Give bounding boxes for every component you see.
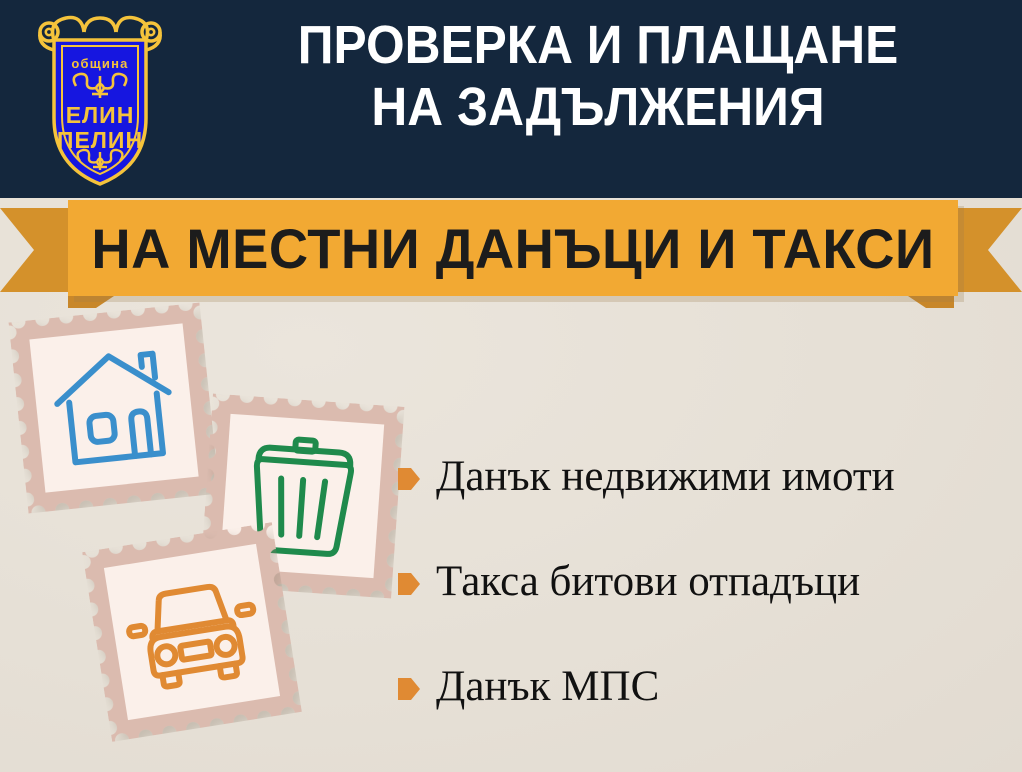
stamp-card-group: [0, 296, 430, 772]
ribbon-banner: [0, 196, 1022, 308]
ribbon-panel: [68, 200, 958, 296]
header-bar: община ЕЛИН ПЕЛИН: [0, 0, 1022, 198]
poster-root: община ЕЛИН ПЕЛИН: [0, 0, 1022, 772]
list-item-label: Данък МПС: [436, 664, 659, 709]
property-tax-card[interactable]: [8, 302, 219, 513]
list-item[interactable]: Данък МПС: [398, 634, 1018, 739]
vehicle-tax-card[interactable]: [82, 522, 302, 742]
list-item[interactable]: Данък недвижими имоти: [398, 424, 1018, 529]
tax-type-list: Данък недвижими имоти Такса битови отпад…: [398, 424, 1018, 739]
list-item-label: Такса битови отпадъци: [436, 559, 860, 604]
arrow-pennant-icon: [398, 676, 420, 702]
svg-text:ЕЛИН: ЕЛИН: [66, 102, 135, 128]
svg-text:община: община: [71, 56, 128, 71]
coat-of-arms-shield-icon: община ЕЛИН ПЕЛИН: [18, 6, 182, 192]
ribbon-tail-left: [0, 208, 78, 292]
list-item[interactable]: Такса битови отпадъци: [398, 529, 1018, 634]
arrow-pennant-icon: [398, 571, 420, 597]
arrow-pennant-icon: [398, 466, 420, 492]
page-title: ПРОВЕРКА И ПЛАЩАНЕ НА ЗАДЪЛЖЕНИЯ: [221, 14, 975, 138]
page-title-line-2: НА ЗАДЪЛЖЕНИЯ: [221, 76, 975, 138]
list-item-label: Данък недвижими имоти: [436, 454, 895, 499]
svg-text:ПЕЛИН: ПЕЛИН: [57, 127, 143, 153]
page-title-line-1: ПРОВЕРКА И ПЛАЩАНЕ: [221, 14, 975, 76]
